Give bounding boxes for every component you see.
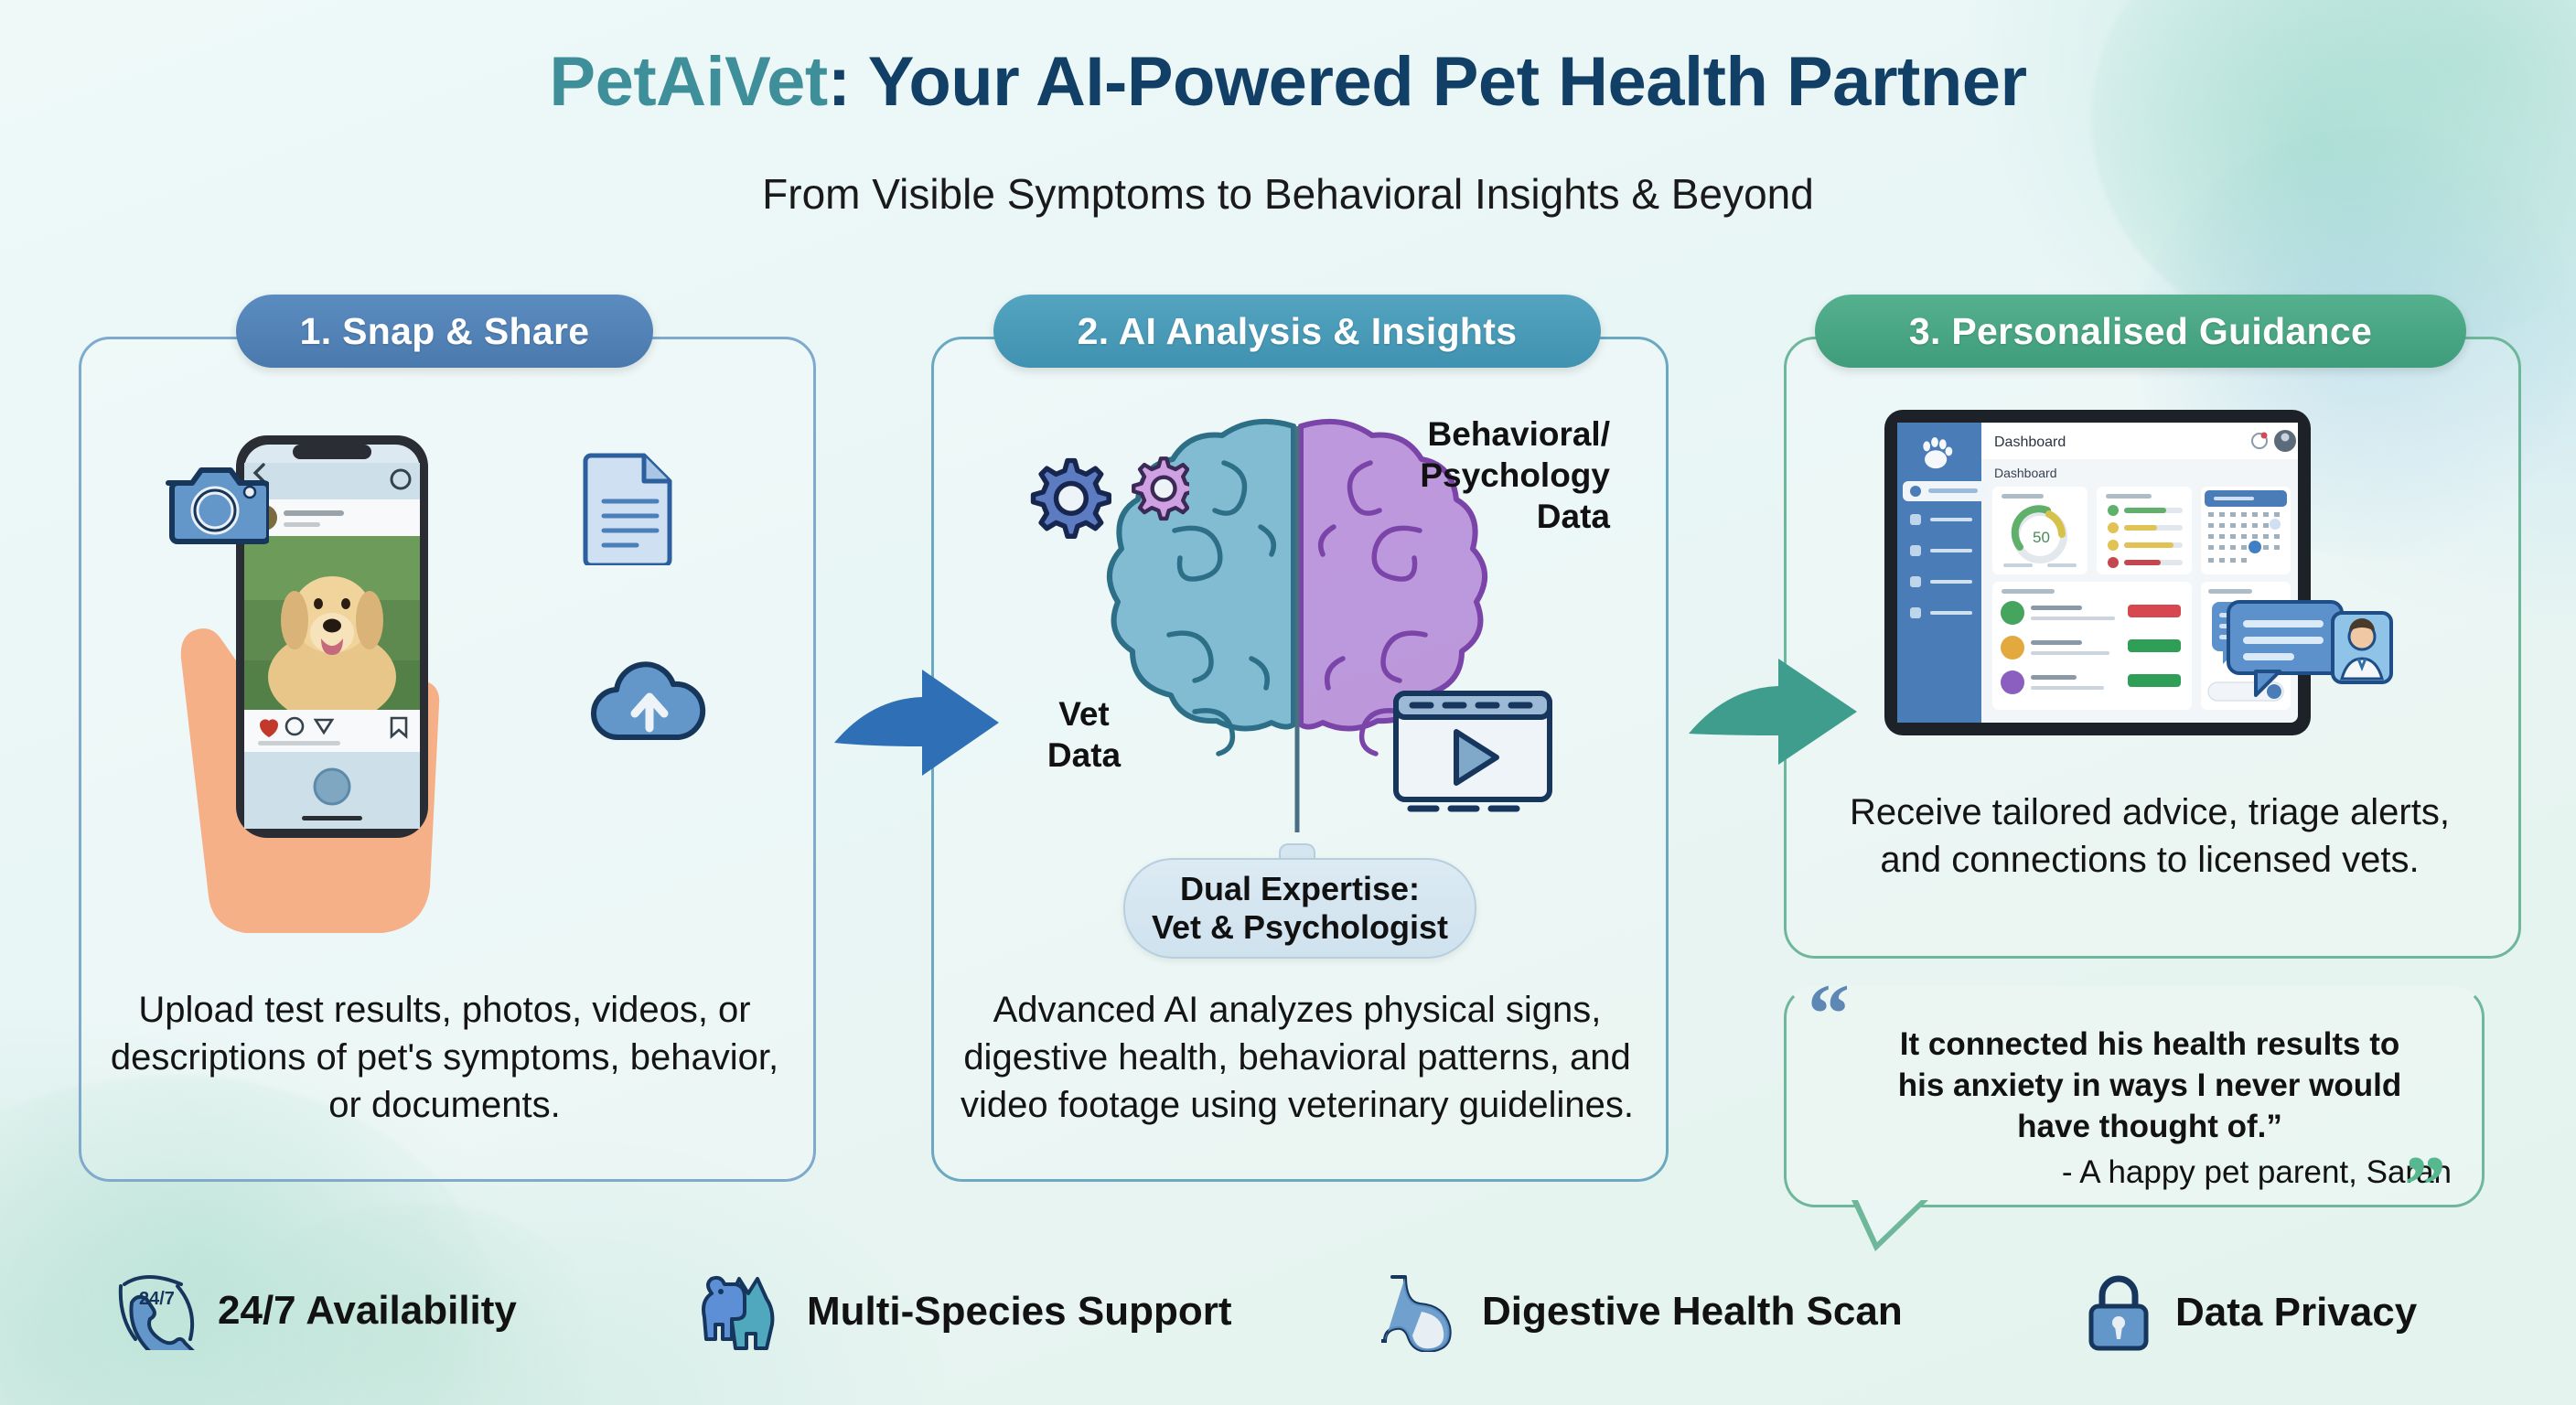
step-2-pill[interactable]: 2. AI Analysis & Insights xyxy=(993,295,1601,368)
dual-expertise-badge: Dual Expertise: Vet & Psychologist xyxy=(1123,858,1476,959)
video-player-icon xyxy=(1390,688,1555,816)
feature-digestive-scan-label: Digestive Health Scan xyxy=(1482,1289,1903,1335)
dog-cat-icon xyxy=(697,1271,785,1352)
feature-multi-species: Multi-Species Support xyxy=(697,1271,1231,1352)
svg-text:Dashboard: Dashboard xyxy=(1994,434,2066,450)
vet-data-label: Vet Data xyxy=(1015,693,1153,776)
testimonial-author: - A happy pet parent, Sarah xyxy=(1857,1154,2452,1191)
infographic-canvas: PetAiVet: Your AI-Powered Pet Health Par… xyxy=(0,0,2576,1405)
svg-text:Dashboard: Dashboard xyxy=(1994,466,2057,480)
arrow-step1-to-step2 xyxy=(834,657,1004,776)
behavioral-data-label: Behavioral/ Psychology Data xyxy=(1400,413,1610,537)
page-title: PetAiVet: Your AI-Powered Pet Health Par… xyxy=(0,42,2576,122)
step-2-description: Advanced AI analyzes physical signs, dig… xyxy=(944,986,1650,1129)
quote-close-icon: ” xyxy=(2404,1143,2446,1228)
step-3-pill[interactable]: 3. Personalised Guidance xyxy=(1815,295,2466,368)
step-3-description: Receive tailored advice, triage alerts, … xyxy=(1820,788,2479,884)
testimonial-tail-inner xyxy=(1857,1198,1923,1242)
step-1-description: Upload test results, photos, videos, or … xyxy=(97,986,792,1129)
arrow-step2-to-step3 xyxy=(1689,646,1862,765)
gear-icon xyxy=(1025,421,1189,558)
feature-data-privacy: Data Privacy xyxy=(2084,1271,2417,1354)
page-subtitle: From Visible Symptoms to Behavioral Insi… xyxy=(0,169,2576,219)
chat-bubble-icon xyxy=(2225,593,2399,721)
lock-icon xyxy=(2084,1271,2153,1354)
phone-24-7-icon: 24/7 xyxy=(117,1271,196,1350)
feature-multi-species-label: Multi-Species Support xyxy=(807,1289,1231,1335)
title-rest: : Your AI-Powered Pet Health Partner xyxy=(828,43,2027,121)
quote-open-icon: “ xyxy=(1808,971,1850,1056)
feature-24-7: 24/7 24/7 Availability xyxy=(117,1271,517,1350)
stomach-icon xyxy=(1381,1271,1460,1352)
document-icon xyxy=(582,450,679,565)
svg-text:24/7: 24/7 xyxy=(139,1289,175,1309)
camera-icon xyxy=(163,457,269,549)
feature-data-privacy-label: Data Privacy xyxy=(2175,1290,2417,1335)
step-1-pill[interactable]: 1. Snap & Share xyxy=(236,295,653,368)
testimonial-text: It connected his health results to his a… xyxy=(1857,1024,2442,1147)
cloud-upload-icon xyxy=(585,657,714,748)
feature-24-7-label: 24/7 Availability xyxy=(218,1288,517,1334)
feature-digestive-scan: Digestive Health Scan xyxy=(1381,1271,1903,1352)
svg-text:50: 50 xyxy=(2033,529,2050,546)
brand-name: PetAiVet xyxy=(549,43,827,121)
